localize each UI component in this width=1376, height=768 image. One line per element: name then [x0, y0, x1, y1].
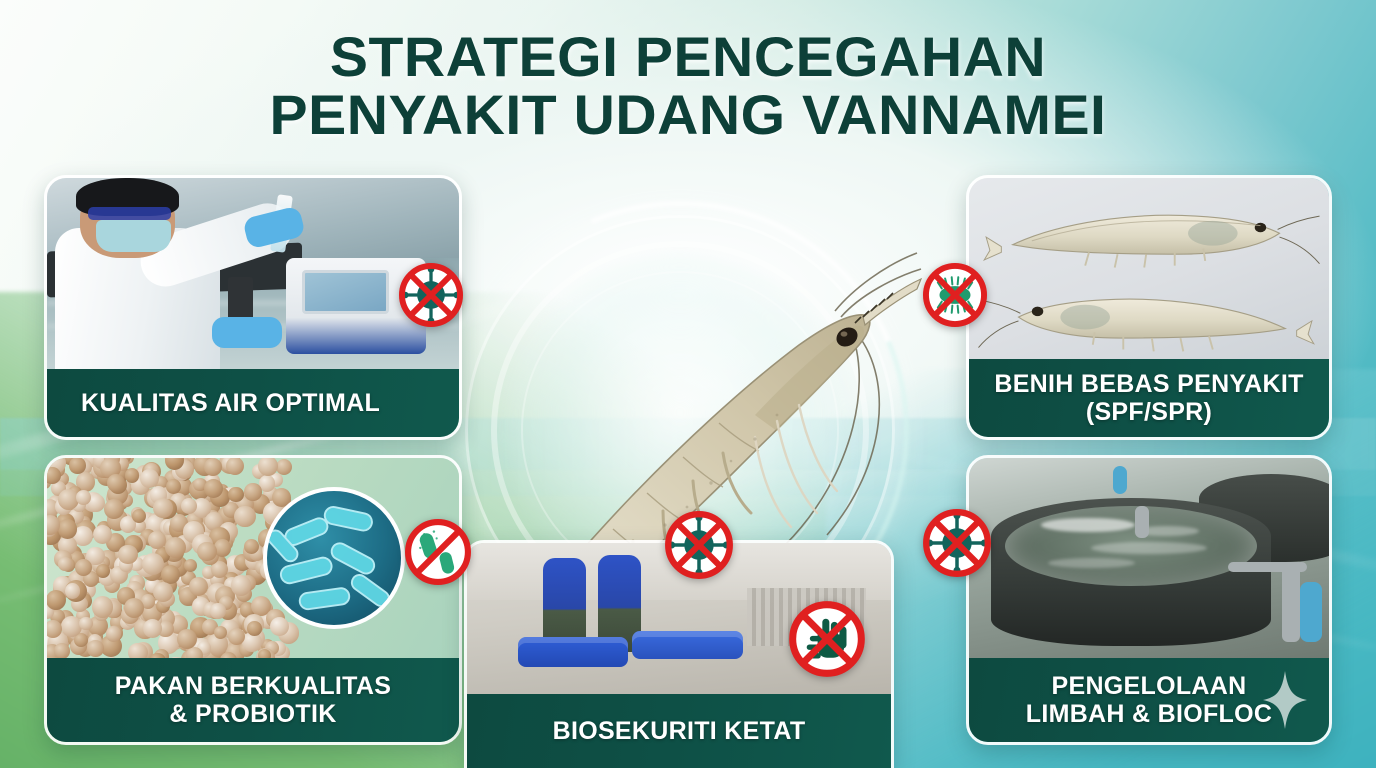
page-title: STRATEGI PENCEGAHAN PENYAKIT UDANG VANNA… [0, 28, 1376, 144]
no-bacteria-icon [404, 518, 472, 586]
feed-pellet [106, 626, 122, 642]
card-water-quality-label: KUALITAS AIR OPTIMAL [81, 389, 380, 417]
feed-pellet [79, 617, 92, 630]
card-quality-feed[interactable]: PAKAN BERKUALITAS & PROBIOTIK [44, 455, 462, 745]
card-quality-feed-label: PAKAN BERKUALITAS & PROBIOTIK [115, 672, 391, 728]
waste-biofloc-photo [969, 458, 1329, 658]
feed-pellet [161, 565, 180, 584]
feed-pellet [226, 458, 244, 475]
feed-pellet [276, 459, 292, 475]
feed-pellet [197, 542, 217, 562]
feed-pellet [69, 458, 86, 474]
card-waste-biofloc-label: PENGELOLAAN LIMBAH & BIOFLOC [1026, 672, 1272, 728]
no-virus-icon [398, 262, 464, 328]
page-title-line-2: PENYAKIT UDANG VANNAMEI [0, 86, 1376, 144]
feed-pellet [47, 590, 66, 610]
feed-pellet [148, 531, 166, 549]
feed-pellet [247, 621, 262, 636]
feed-pellet [153, 498, 173, 518]
card-waste-biofloc-caption: PENGELOLAAN LIMBAH & BIOFLOC [969, 658, 1329, 742]
feed-pellet [181, 498, 197, 514]
feed-pellet [228, 628, 245, 645]
feed-pellet [93, 525, 112, 544]
feed-pellet [189, 577, 208, 596]
card-disease-free-seed[interactable]: BENIH BEBAS PENYAKIT (SPF/SPR) [966, 175, 1332, 440]
feed-pellet [92, 596, 114, 618]
feed-pellet [107, 474, 125, 492]
feed-pellet [87, 640, 104, 657]
feed-pellet [231, 575, 252, 596]
feed-pellet [177, 629, 197, 649]
feed-pellet [54, 643, 70, 658]
feed-pellet [65, 583, 80, 598]
card-disease-free-seed-label: BENIH BEBAS PENYAKIT (SPF/SPR) [994, 370, 1303, 426]
no-virus-icon [664, 510, 734, 580]
feed-pellet [244, 539, 259, 554]
feed-pellet [270, 617, 289, 636]
card-biosecurity-label: BIOSEKURITI KETAT [553, 717, 806, 745]
card-quality-feed-caption: PAKAN BERKUALITAS & PROBIOTIK [47, 658, 459, 742]
feed-pellet [75, 559, 92, 576]
feed-pellet [96, 564, 110, 578]
feed-pellet [204, 458, 223, 476]
sparkle-icon [1263, 671, 1307, 729]
feed-pellet [140, 469, 159, 488]
page-title-line-1: STRATEGI PENCEGAHAN [0, 28, 1376, 86]
quality-feed-probiotic-photo [47, 458, 459, 658]
feed-pellet [166, 479, 181, 494]
feed-pellet [228, 487, 244, 503]
probiotic-inset [263, 487, 405, 629]
feed-pellet [234, 506, 255, 527]
feed-pellet [58, 557, 72, 571]
card-waste-biofloc[interactable]: PENGELOLAAN LIMBAH & BIOFLOC [966, 455, 1332, 745]
no-virus-icon [922, 508, 992, 578]
feed-pellet [128, 643, 148, 658]
card-disease-free-seed-caption: BENIH BEBAS PENYAKIT (SPF/SPR) [969, 359, 1329, 437]
feed-pellet [143, 619, 162, 638]
feed-pellet [184, 559, 197, 572]
card-water-quality-caption: KUALITAS AIR OPTIMAL [47, 369, 459, 437]
disease-free-seed-photo [969, 178, 1329, 359]
feed-pellet [210, 603, 226, 619]
no-pathogen-icon [922, 262, 988, 328]
feed-pellet [118, 545, 137, 564]
feed-pellet [204, 479, 223, 498]
no-touch-icon [788, 600, 866, 678]
feed-pellet [244, 483, 261, 500]
feed-pellet [61, 616, 82, 637]
card-biosecurity-caption: BIOSEKURITI KETAT [467, 694, 891, 768]
feed-pellets [47, 458, 278, 658]
